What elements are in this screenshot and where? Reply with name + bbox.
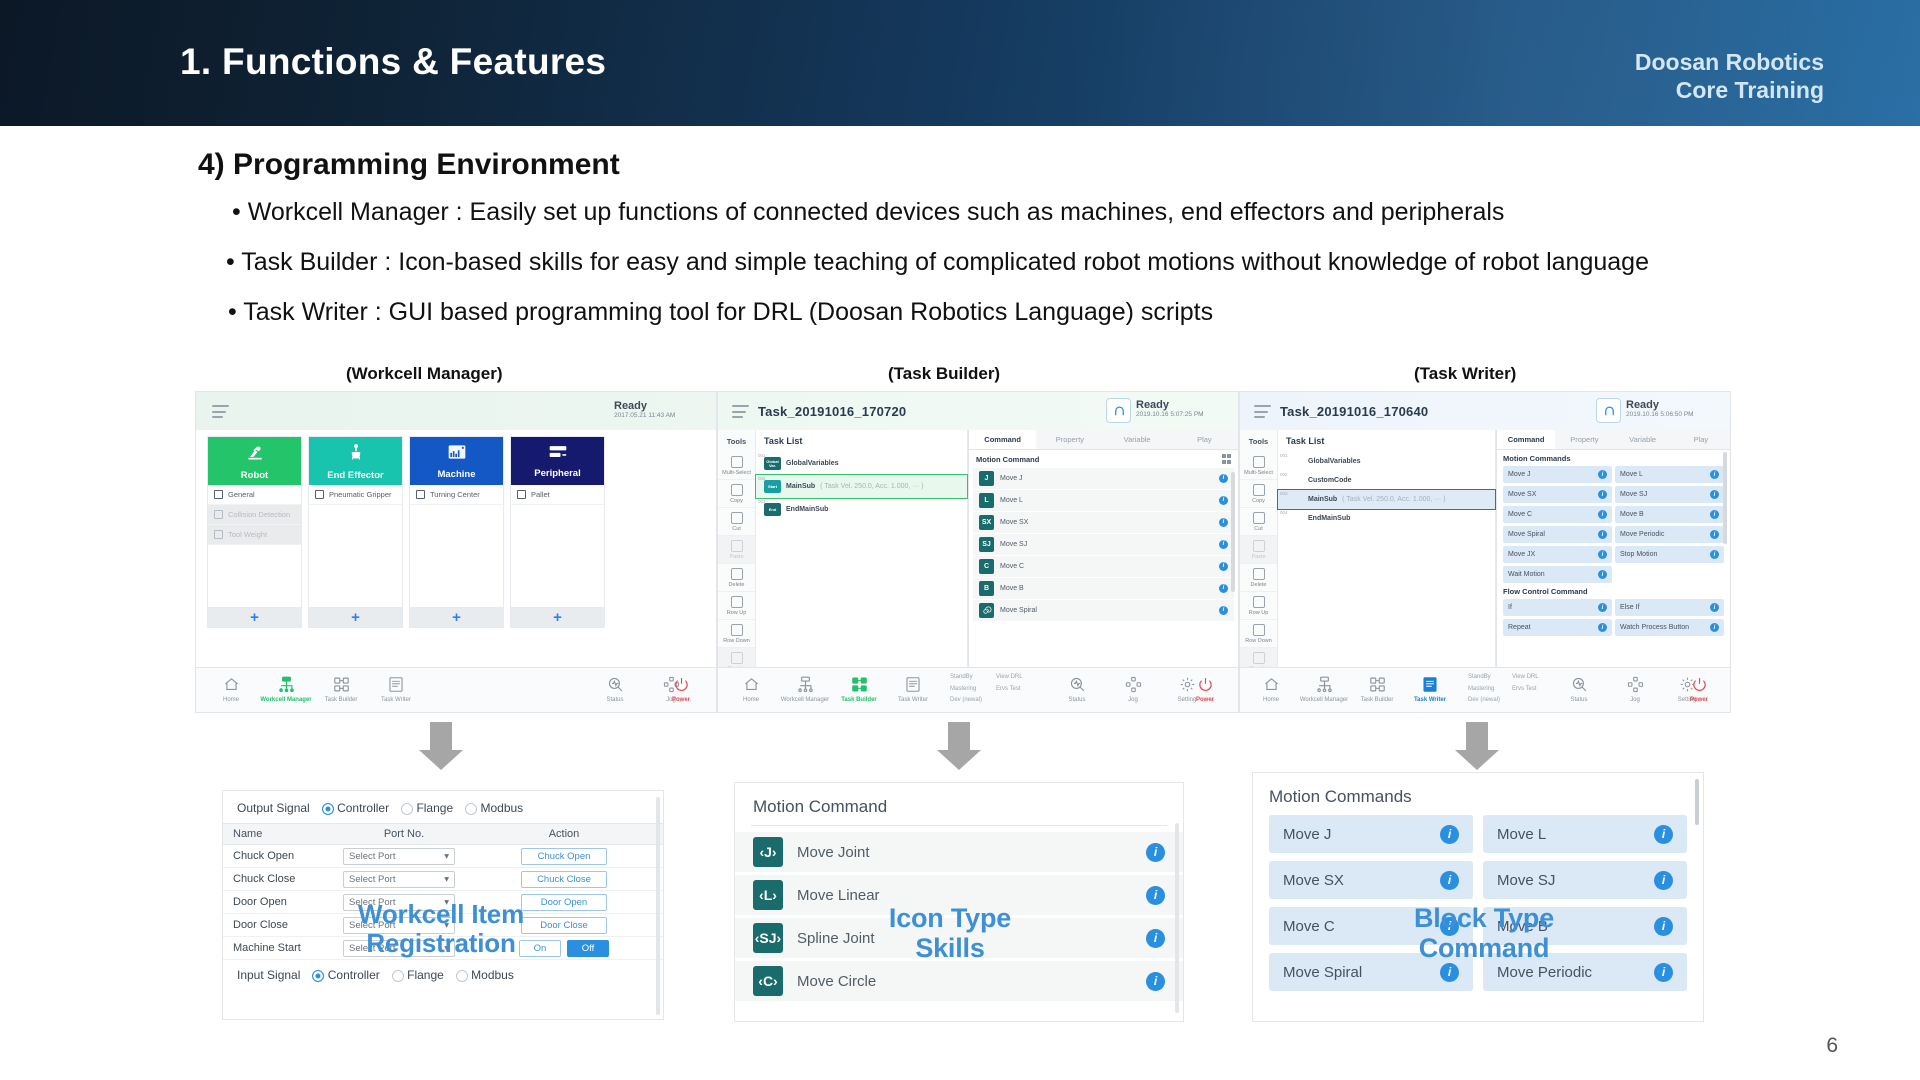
dev-label: Dev (newal) [950, 695, 982, 707]
signal-name: Chuck Close [223, 873, 343, 885]
col-action: Action [465, 828, 663, 840]
info-icon[interactable]: i [1598, 570, 1607, 579]
nav-status[interactable]: Status [1552, 673, 1606, 703]
tool-label: Cut [1254, 526, 1263, 532]
command-block[interactable]: Move Ji [1269, 815, 1473, 853]
tool-row-down[interactable]: Row Down [718, 620, 755, 648]
tool-icon [1253, 596, 1265, 608]
info-icon[interactable]: i [1710, 623, 1719, 632]
tool-label: Row Up [727, 610, 747, 616]
tools-header: Tools [718, 430, 755, 452]
task-writer-icon [886, 673, 940, 695]
panel1-status: Ready 2017.05.21 11:43 AM [614, 400, 675, 420]
command-header-label: Motion Command [976, 455, 1039, 464]
command-block-label: Move JX [1508, 551, 1535, 558]
info-icon[interactable]: i [1654, 871, 1673, 890]
port-select[interactable]: Select Port▾ [343, 871, 455, 888]
info-icon[interactable]: i [1219, 562, 1228, 571]
tool-label: Delete [1251, 582, 1267, 588]
workcell-card-row[interactable]: Tool Weight [208, 525, 301, 545]
action-button[interactable]: Door Close [521, 917, 607, 934]
workcell-card-title: Machine [437, 469, 475, 480]
bullet-workcell-manager: • Workcell Manager : Easily set up funct… [232, 198, 1504, 227]
tool-cut[interactable]: Cut [718, 508, 755, 536]
nav-home[interactable]: Home [204, 673, 258, 703]
command-row[interactable]: SJMove SJi [973, 534, 1234, 555]
info-icon[interactable]: i [1440, 825, 1459, 844]
nav-label: Task Writer [369, 697, 423, 703]
command-block[interactable]: Watch Process Buttoni [1615, 619, 1724, 636]
workcell-card-peripheral[interactable]: PeripheralPallet+ [510, 436, 605, 628]
workcell-card-robot[interactable]: RobotGeneralCollision DetectionTool Weig… [207, 436, 302, 628]
radio-flange-input[interactable]: Flange [392, 968, 444, 982]
detail3-header: Motion Commands [1253, 773, 1703, 815]
home-icon [724, 673, 778, 695]
workcell-card-row[interactable]: Pneumatic Gripper [309, 485, 402, 505]
action-cell[interactable]: Chuck Open [465, 848, 663, 865]
command-block[interactable]: Move SJi [1483, 861, 1687, 899]
action-button[interactable]: Door Open [521, 894, 607, 911]
info-icon[interactable]: i [1598, 470, 1607, 479]
nav-label: Task Builder [832, 697, 886, 703]
task-row-chip: End [764, 503, 781, 516]
status-time: 2019.10.16 5:07:25 PM [1136, 411, 1204, 419]
task-row-label: CustomCode [1308, 477, 1352, 484]
nav-power-label: Power [1178, 697, 1232, 703]
info-icon[interactable]: i [1146, 972, 1165, 991]
tool-label: Row Down [1245, 638, 1272, 644]
power-icon [1672, 673, 1726, 695]
nav-power-label: Power [1672, 697, 1726, 703]
command-label: Move L [1000, 497, 1213, 504]
task-row-number: 002 [758, 476, 766, 481]
task-row-chip: Start [764, 480, 781, 493]
command-block[interactable]: Move SXi [1503, 486, 1612, 503]
input-signal-row[interactable]: Input Signal Controller Flange Modbus [223, 960, 663, 982]
nav-label: Home [724, 697, 778, 703]
view-drl-label: View DRL [1512, 672, 1539, 684]
task-row[interactable]: 004EndMainSub [1278, 509, 1495, 528]
command-block-label: Watch Process Button [1620, 624, 1689, 631]
nav-label: Workcell Manager [259, 697, 313, 703]
command-label: Move J [1000, 475, 1213, 482]
command-block[interactable]: Wait Motioni [1503, 566, 1612, 583]
workcell-card-row[interactable]: Collision Detection [208, 505, 301, 525]
command-row[interactable]: LMove Li [973, 490, 1234, 511]
workcell-card-header[interactable]: Robot [208, 437, 301, 485]
block-type-command-detail[interactable]: Motion Commands Move JiMove LiMove SXiMo… [1252, 772, 1704, 1022]
item-icon [214, 510, 223, 519]
command-label: Move Spiral [1000, 607, 1213, 614]
menu-icon[interactable] [212, 405, 229, 418]
task-row-label: EndMainSub [1308, 515, 1350, 522]
command-block[interactable]: Move Li [1615, 466, 1724, 483]
workcell-card-row[interactable]: Turning Center [410, 485, 503, 505]
panel2-tabs[interactable]: CommandPropertyVariablePlay [969, 430, 1238, 450]
power-icon [654, 673, 708, 695]
radio-modbus-input[interactable]: Modbus [456, 968, 514, 982]
workcell-card-row-label: Turning Center [430, 490, 480, 499]
task-row-label: MainSub [786, 483, 815, 490]
tool-copy[interactable]: Copy [718, 480, 755, 508]
panel1-topbar: Ready 2017.05.21 11:43 AM [196, 392, 716, 430]
nav-task-builder[interactable]: Task Builder [314, 673, 368, 703]
nav-task-builder[interactable]: Task Builder [1350, 673, 1404, 703]
info-icon[interactable]: i [1710, 490, 1719, 499]
tab-property[interactable]: Property [1555, 430, 1613, 449]
chevron-down-icon: ▾ [444, 874, 449, 885]
workcell-card-header[interactable]: Peripheral [511, 437, 604, 485]
tool-label: Paste [1251, 554, 1265, 560]
nav-status[interactable]: Status [1050, 673, 1104, 703]
item-icon [315, 490, 324, 499]
home-icon [1244, 673, 1298, 695]
page-title: 1. Functions & Features [180, 41, 606, 83]
tab-variable[interactable]: Variable [1104, 430, 1171, 449]
command-block-label: Move J [1283, 826, 1331, 843]
info-icon[interactable]: i [1654, 963, 1673, 982]
tool-label: Cut [732, 526, 741, 532]
info-icon[interactable]: i [1598, 490, 1607, 499]
info-icon[interactable]: i [1440, 871, 1459, 890]
info-icon[interactable]: i [1598, 550, 1607, 559]
nav-workcell-manager[interactable]: Workcell Manager [259, 673, 313, 703]
panel1-navbar[interactable]: HomeWorkcell ManagerTask BuilderTask Wri… [196, 667, 716, 712]
task-row-label: MainSub [1308, 496, 1337, 503]
item-icon [416, 490, 425, 499]
info-icon[interactable]: i [1654, 917, 1673, 936]
status-icon [1050, 673, 1104, 695]
panel3-task-list[interactable]: Task List 001GlobalVariables002CustomCod… [1278, 430, 1496, 667]
tool-icon [731, 484, 743, 496]
panel2-status: Ready 2019.10.16 5:07:25 PM [1136, 399, 1204, 419]
command-row[interactable]: SXMove SXi [973, 512, 1234, 533]
info-icon[interactable]: i [1598, 623, 1607, 632]
command-block-label: Move SJ [1497, 872, 1555, 889]
task-list-header: Task List [756, 430, 967, 452]
info-icon[interactable]: i [1219, 474, 1228, 483]
tool-paste: Paste [718, 536, 755, 564]
port-select-cell[interactable]: Select Port▾ [343, 871, 465, 888]
nav-task-builder[interactable]: Task Builder [832, 673, 886, 703]
radio-controller-output[interactable]: Controller [322, 801, 389, 815]
nav-task-writer[interactable]: Task Writer [1403, 673, 1457, 703]
skill-label: Move Circle [797, 973, 1132, 990]
nav-power[interactable]: Power [654, 673, 708, 703]
menu-icon[interactable] [1254, 405, 1271, 418]
grid-view-icon[interactable] [1222, 454, 1232, 464]
nav-jog[interactable]: Jog [1608, 673, 1662, 703]
tool-multi-select[interactable]: Multi-Select [1240, 452, 1277, 480]
workcell-card-machine[interactable]: MachineTurning Center+ [409, 436, 504, 628]
tool-icon [1253, 540, 1265, 552]
workcell-card-add-button[interactable]: + [410, 607, 503, 627]
command-block[interactable]: Move Bi [1615, 506, 1724, 523]
port-select-cell[interactable]: Select Port▾ [343, 848, 465, 865]
task-row-number: 003 [1280, 491, 1288, 496]
command-block-label: If [1508, 604, 1512, 611]
panel2-navbar[interactable]: HomeWorkcell ManagerTask BuilderTask Wri… [718, 667, 1238, 712]
detail1-scrollbar[interactable] [656, 797, 660, 1015]
command-block[interactable]: Move Spirali [1503, 526, 1612, 543]
down-arrow-3 [1455, 722, 1499, 770]
workcell-card-end-effector[interactable]: End EffectorPneumatic Gripper+ [308, 436, 403, 628]
overlay-icon-type-skills: Icon TypeSkills [850, 903, 1050, 963]
workcell-card-add-button[interactable]: + [208, 607, 301, 627]
icon-type-skills-detail[interactable]: Motion Command ‹J›Move Jointi‹L›Move Lin… [734, 782, 1184, 1022]
panel2-topbar: Task_20191016_170720 Ready 2019.10.16 5:… [718, 392, 1238, 430]
nav-label: Home [1244, 697, 1298, 703]
col-port: Port No. [343, 828, 465, 840]
tab-command[interactable]: Command [1497, 430, 1555, 449]
panel2-command-header: Motion Command [969, 450, 1238, 468]
workcell-card-row[interactable]: Pallet [511, 485, 604, 505]
workcell-card-row-label: General [228, 490, 255, 499]
info-icon[interactable]: i [1710, 510, 1719, 519]
nav-status[interactable]: Status [588, 673, 642, 703]
nav-status-label: Status [1552, 697, 1606, 703]
nav-task-writer[interactable]: Task Writer [886, 673, 940, 703]
tool-delete[interactable]: Delete [718, 564, 755, 592]
radio-modbus-output[interactable]: Modbus [465, 801, 523, 815]
command-block[interactable]: Move Ji [1503, 466, 1612, 483]
command-block[interactable]: Else Ifi [1615, 599, 1724, 616]
task-row-chip: Global Var. [764, 457, 781, 470]
action-button[interactable]: Chuck Close [521, 871, 607, 888]
bullet-task-writer: • Task Writer : GUI based programming to… [228, 298, 1213, 327]
info-icon[interactable]: i [1654, 825, 1673, 844]
nav-task-writer[interactable]: Task Writer [369, 673, 423, 703]
info-icon[interactable]: i [1710, 470, 1719, 479]
task-builder-screenshot[interactable]: Task_20191016_170720 Ready 2019.10.16 5:… [718, 392, 1238, 712]
action-cell[interactable]: Chuck Close [465, 871, 663, 888]
nav-power-label: Power [654, 697, 708, 703]
info-icon[interactable]: i [1598, 510, 1607, 519]
status-label: Ready [1626, 399, 1694, 411]
tool-icon [1253, 568, 1265, 580]
tool-label: Row Down [723, 638, 750, 644]
command-block[interactable]: Move Ci [1503, 506, 1612, 523]
panel3-nav-text-col2: View DRL Ervs Test [1512, 672, 1539, 695]
info-icon[interactable]: i [1146, 886, 1165, 905]
command-block[interactable]: Move Li [1483, 815, 1687, 853]
panel3-topbar: Task_20191016_170640 Ready 2019.10.16 5:… [1240, 392, 1730, 430]
home-icon [204, 673, 258, 695]
task-writer-screenshot[interactable]: Task_20191016_170640 Ready 2019.10.16 5:… [1240, 392, 1730, 712]
workcell-manager-screenshot[interactable]: Ready 2017.05.21 11:43 AM RobotGeneralCo… [196, 392, 716, 712]
nav-workcell-manager[interactable]: Workcell Manager [778, 673, 832, 703]
ervs-test-label: Ervs Test [1512, 684, 1539, 696]
ervs-test-label: Ervs Test [996, 684, 1023, 696]
tool-row-down[interactable]: Row Down [1240, 620, 1277, 648]
workcell-card-row-label: Pneumatic Gripper [329, 490, 392, 499]
tool-multi-select[interactable]: Multi-Select [718, 452, 755, 480]
port-select[interactable]: Select Port▾ [343, 848, 455, 865]
panel3-tabs[interactable]: CommandPropertyVariablePlay [1497, 430, 1730, 450]
status-icon [588, 673, 642, 695]
tool-icon [1253, 456, 1265, 468]
skill-label: Move Linear [797, 887, 1132, 904]
tab-command[interactable]: Command [969, 430, 1036, 449]
gripper-icon [346, 442, 366, 467]
command-block-label: Move L [1497, 826, 1546, 843]
nav-label: Home [204, 697, 258, 703]
command-row[interactable]: CMove Ci [973, 556, 1234, 577]
command-block-label: Move SX [1508, 491, 1536, 498]
task-row[interactable]: 002CustomCode [1278, 471, 1495, 490]
tool-row-up[interactable]: Row Up [1240, 592, 1277, 620]
item-icon [214, 530, 223, 539]
status-label: Ready [1136, 399, 1204, 411]
signal-row[interactable]: Chuck OpenSelect Port▾Chuck Open [223, 845, 663, 868]
tool-delete[interactable]: Delete [1240, 564, 1277, 592]
nav-home[interactable]: Home [724, 673, 778, 703]
detail2-scrollbar[interactable] [1175, 823, 1179, 1013]
command-block[interactable]: Move SXi [1269, 861, 1473, 899]
task-row[interactable]: 001GlobalVariables [1278, 452, 1495, 471]
tab-property[interactable]: Property [1036, 430, 1103, 449]
robot-state-icon [1596, 398, 1621, 423]
nav-label: Task Builder [314, 697, 368, 703]
task-row-detail: ( Task Vel. 250.0, Acc. 1.000, ··· ) [1342, 496, 1445, 503]
nav-jog[interactable]: Jog [1106, 673, 1160, 703]
tab-play[interactable]: Play [1672, 430, 1730, 449]
info-icon[interactable]: i [1219, 518, 1228, 527]
tools-header: Tools [1240, 430, 1277, 452]
panel3-command-pane[interactable]: CommandPropertyVariablePlay Motion Comma… [1496, 430, 1730, 667]
workcell-card-add-button[interactable]: + [309, 607, 402, 627]
radio-controller-input[interactable]: Controller [312, 968, 379, 982]
tool-copy[interactable]: Copy [1240, 480, 1277, 508]
item-icon [517, 490, 526, 499]
nav-power[interactable]: Power [1672, 673, 1726, 703]
workcell-card-title: End Effector [327, 470, 383, 481]
info-icon[interactable]: i [1598, 530, 1607, 539]
nav-home[interactable]: Home [1244, 673, 1298, 703]
motion-commands-header: Motion Commands [1497, 450, 1730, 466]
jog-icon [1608, 673, 1662, 695]
command-glyph-icon: J [979, 471, 994, 486]
task-row-label: GlobalVariables [1308, 458, 1361, 465]
skill-glyph-icon: ‹C› [753, 966, 783, 996]
info-icon[interactable]: i [1440, 963, 1459, 982]
power-icon [1178, 673, 1232, 695]
slide-header-band: 1. Functions & Features Doosan Robotics … [0, 0, 1920, 126]
command-block-label: Move Spiral [1508, 531, 1545, 538]
nav-power[interactable]: Power [1178, 673, 1232, 703]
panel2-task-title: Task_20191016_170720 [758, 404, 906, 419]
tool-row-up[interactable]: Row Up [718, 592, 755, 620]
skill-row[interactable]: ‹J›Move Jointi [735, 832, 1183, 872]
info-icon[interactable]: i [1710, 530, 1719, 539]
info-icon[interactable]: i [1219, 496, 1228, 505]
workcell-card-row-label: Tool Weight [228, 530, 267, 539]
nav-workcell-manager[interactable]: Workcell Manager [1297, 673, 1351, 703]
panel3-navbar[interactable]: HomeWorkcell ManagerTask BuilderTask Wri… [1240, 667, 1730, 712]
nav-label: Workcell Manager [778, 697, 832, 703]
panel3-scrollbar[interactable] [1723, 452, 1727, 544]
tool-cut[interactable]: Cut [1240, 508, 1277, 536]
task-row[interactable]: 002StartMainSub( Task Vel. 250.0, Acc. 1… [756, 475, 967, 498]
overlay-block-type-command: Block TypeCommand [1378, 903, 1590, 963]
output-signal-row[interactable]: Output Signal Controller Flange Modbus [223, 791, 663, 823]
info-icon[interactable]: i [1710, 550, 1719, 559]
skill-glyph-icon: ‹SJ› [753, 923, 783, 953]
task-row[interactable]: 001Global Var.GlobalVariables [756, 452, 967, 475]
command-block[interactable]: Ifi [1503, 599, 1612, 616]
task-writer-icon [369, 673, 423, 695]
radio-flange-output[interactable]: Flange [401, 801, 453, 815]
caption-workcell-manager: (Workcell Manager) [346, 364, 503, 384]
command-row[interactable]: Move Spirali [973, 600, 1234, 621]
panel2-task-list[interactable]: Task List 001Global Var.GlobalVariables0… [756, 430, 968, 667]
panel3-status: Ready 2019.10.16 5:06:50 PM [1626, 399, 1694, 419]
command-label: Move SJ [1000, 541, 1213, 548]
command-row[interactable]: BMove Bi [973, 578, 1234, 599]
peripheral-icon [548, 444, 568, 465]
tool-label: Copy [730, 498, 743, 504]
info-icon[interactable]: i [1598, 603, 1607, 612]
flow-control-header: Flow Control Command [1497, 583, 1730, 599]
workcell-card-add-button[interactable]: + [511, 607, 604, 627]
caption-task-builder: (Task Builder) [888, 364, 1000, 384]
action-button[interactable]: Chuck Open [521, 848, 607, 865]
info-icon[interactable]: i [1146, 929, 1165, 948]
info-icon[interactable]: i [1219, 584, 1228, 593]
info-icon[interactable]: i [1710, 603, 1719, 612]
tab-variable[interactable]: Variable [1614, 430, 1672, 449]
robot-state-icon [1106, 398, 1131, 423]
workcell-card-header[interactable]: End Effector [309, 437, 402, 485]
command-block[interactable]: Move JXi [1503, 546, 1612, 563]
command-block-label: Move C [1283, 918, 1335, 935]
signal-name: Machine Start [223, 942, 343, 954]
tool-icon [731, 456, 743, 468]
panel3-tools-column[interactable]: Tools Multi-SelectCopyCutPasteDeleteRow … [1240, 430, 1278, 667]
task-builder-icon [1350, 673, 1404, 695]
command-block[interactable]: Stop Motioni [1615, 546, 1724, 563]
action-button[interactable]: Off [567, 940, 609, 957]
panel2-scrollbar[interactable] [1231, 472, 1235, 592]
panel2-command-pane[interactable]: CommandPropertyVariablePlay Motion Comma… [968, 430, 1238, 667]
command-block[interactable]: Move Periodici [1615, 526, 1724, 543]
bullet-task-builder: • Task Builder : Icon-based skills for e… [226, 248, 1649, 277]
machine-icon [447, 443, 467, 466]
detail3-scrollbar[interactable] [1695, 779, 1699, 825]
command-block[interactable]: Move SJi [1615, 486, 1724, 503]
info-icon[interactable]: i [1146, 843, 1165, 862]
signal-row[interactable]: Chuck CloseSelect Port▾Chuck Close [223, 868, 663, 891]
workcell-card-header[interactable]: Machine [410, 437, 503, 485]
tool-label: Paste [729, 554, 743, 560]
tool-icon [1253, 484, 1265, 496]
tab-play[interactable]: Play [1171, 430, 1238, 449]
workcell-icon [778, 673, 832, 695]
menu-icon[interactable] [732, 405, 749, 418]
workcell-card-row[interactable]: General [208, 485, 301, 505]
tool-icon [1253, 624, 1265, 636]
task-row[interactable]: 003MainSub( Task Vel. 250.0, Acc. 1.000,… [1278, 490, 1495, 509]
info-icon[interactable]: i [1219, 606, 1228, 615]
command-row[interactable]: JMove Ji [973, 468, 1234, 489]
task-row-number: 003 [758, 499, 766, 504]
panel2-tools-column[interactable]: Tools Multi-SelectCopyCutPasteDeleteRow … [718, 430, 756, 667]
task-writer-icon [1403, 673, 1457, 695]
info-icon[interactable]: i [1219, 540, 1228, 549]
task-row[interactable]: 003EndEndMainSub [756, 498, 967, 521]
command-block[interactable]: Repeati [1503, 619, 1612, 636]
skill-row[interactable]: ‹C›Move Circlei [735, 961, 1183, 1001]
